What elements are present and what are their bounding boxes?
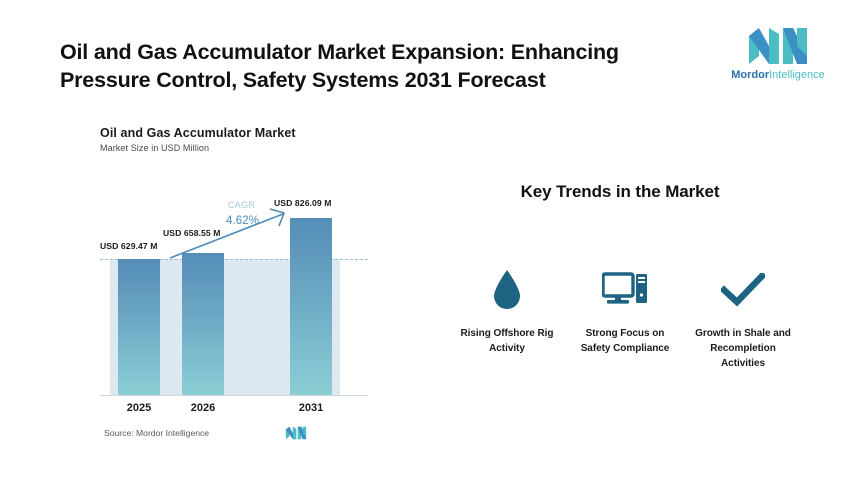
chart-plot-area: USD 629.47 M USD 658.55 M USD 826.09 M C… (100, 186, 368, 396)
trend-item-safety-compliance: Strong Focus on Safety Compliance (573, 266, 677, 371)
chart-subtitle: Market Size in USD Million (100, 143, 368, 153)
bar-2025 (118, 259, 160, 396)
trend-label-safety-compliance: Strong Focus on Safety Compliance (573, 326, 677, 356)
bar-label-2026: USD 658.55 M (163, 228, 221, 238)
logo-word-mordor: Mordor (731, 69, 769, 81)
key-trends-heading: Key Trends in the Market (470, 182, 770, 202)
logo-word-intelligence: Intelligence (769, 69, 825, 81)
chart-title: Oil and Gas Accumulator Market (100, 126, 368, 140)
trend-label-shale-growth: Growth in Shale and Recompletion Activit… (691, 326, 795, 371)
mordor-logo-mark (747, 26, 809, 66)
water-droplet-icon (455, 266, 559, 314)
market-size-chart: Oil and Gas Accumulator Market Market Si… (100, 126, 368, 446)
cagr-label: CAGR (228, 200, 255, 210)
chart-axis-line (100, 395, 368, 396)
slide-canvas: Oil and Gas Accumulator Market Expansion… (0, 0, 860, 486)
chart-source-text: Source: Mordor Intelligence (104, 428, 209, 438)
bar-2026 (182, 253, 224, 396)
checkmark-icon (691, 266, 795, 314)
bar-label-2031: USD 826.09 M (274, 198, 332, 208)
x-tick-2026: 2026 (173, 402, 233, 414)
bar-2031 (290, 218, 332, 396)
mordor-intelligence-logo: MordorIntelligence (724, 26, 832, 81)
chart-x-axis: 2025 2026 2031 (100, 402, 368, 418)
key-trends-list: Rising Offshore Rig Activity Strong Focu… (455, 266, 795, 371)
chart-source-row: Source: Mordor Intelligence (100, 426, 368, 442)
mordor-logo-wordmark: MordorIntelligence (724, 70, 832, 81)
desktop-computer-icon (573, 266, 677, 314)
trend-item-offshore-rig: Rising Offshore Rig Activity (455, 266, 559, 371)
mordor-logo-mark-small (285, 426, 307, 440)
cagr-value: 4.62% (226, 215, 259, 227)
bar-label-2025: USD 629.47 M (100, 241, 158, 251)
page-title: Oil and Gas Accumulator Market Expansion… (60, 38, 685, 95)
x-tick-2031: 2031 (281, 402, 341, 414)
x-tick-2025: 2025 (109, 402, 169, 414)
trend-label-offshore-rig: Rising Offshore Rig Activity (455, 326, 559, 356)
trend-item-shale-growth: Growth in Shale and Recompletion Activit… (691, 266, 795, 371)
